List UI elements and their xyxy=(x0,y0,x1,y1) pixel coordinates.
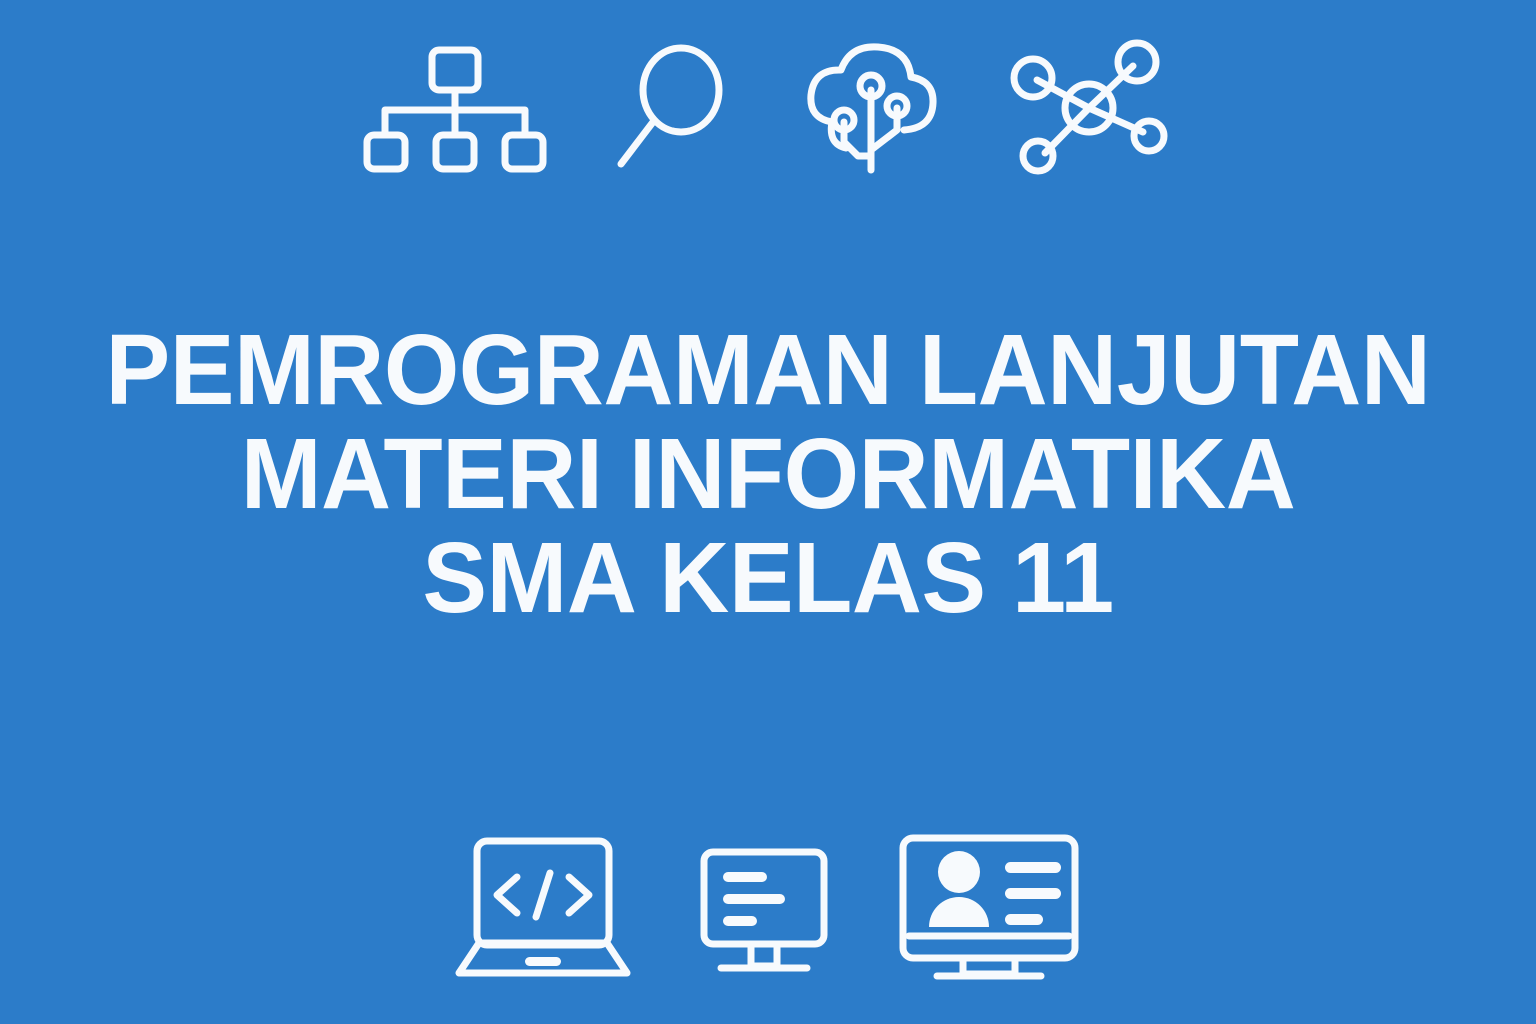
bottom-icon-row xyxy=(0,832,1536,984)
monitor-profile-icon xyxy=(897,832,1081,984)
title-line-2: MATERI INFORMATIKA xyxy=(23,422,1513,526)
title-line-3: SMA KELAS 11 xyxy=(23,526,1513,630)
monitor-text-icon xyxy=(697,838,831,978)
title-line-1: PEMROGRAMAN LANJUTAN xyxy=(23,318,1513,422)
network-icon xyxy=(1011,38,1171,178)
poster-title: PEMROGRAMAN LANJUTAN MATERI INFORMATIKA … xyxy=(0,318,1536,630)
poster-canvas: PEMROGRAMAN LANJUTAN MATERI INFORMATIKA … xyxy=(0,0,1536,1024)
laptop-code-icon xyxy=(455,833,631,983)
hierarchy-icon xyxy=(365,38,541,178)
top-icon-row xyxy=(0,38,1536,178)
search-icon xyxy=(611,38,731,178)
cloud-ai-icon xyxy=(801,38,941,178)
